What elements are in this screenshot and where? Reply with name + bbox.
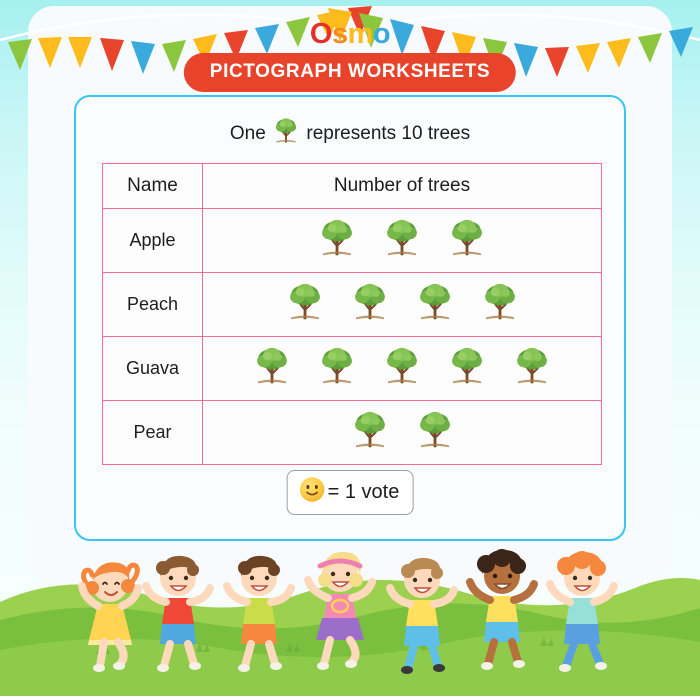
tree-icon — [416, 282, 454, 328]
osmo-logo: Osmo — [0, 20, 700, 49]
table-body: Name Number of trees Apple Peach — [103, 164, 602, 465]
header-cell-count: Number of trees — [203, 164, 602, 209]
logo-letter-o2: o — [373, 18, 390, 50]
ground-illustration — [0, 516, 700, 696]
row-trees-apple — [203, 209, 602, 273]
table-row: Peach — [103, 273, 602, 337]
header-cell-name: Name — [103, 164, 203, 209]
tree-icon — [448, 218, 486, 264]
worksheet-title-banner: PICTOGRAPH WORKSHEETS — [184, 53, 516, 92]
row-label-guava: Guava — [103, 337, 203, 401]
vote-legend-label: = 1 vote — [328, 481, 400, 504]
table-row: Apple — [103, 209, 602, 273]
tree-icon — [273, 117, 299, 151]
tree-group — [203, 410, 601, 456]
tree-group — [203, 282, 601, 328]
tree-icon — [318, 346, 356, 392]
worksheet-page: Osmo PICTOGRAPH WORKSHEETS One repr — [0, 0, 700, 696]
table-row: Pear — [103, 401, 602, 465]
pictograph-key-caption: One represents 10 trees — [76, 117, 624, 151]
tree-icon — [383, 346, 421, 392]
row-trees-pear — [203, 401, 602, 465]
table-row: Guava — [103, 337, 602, 401]
tree-icon — [318, 218, 356, 264]
tree-icon — [481, 282, 519, 328]
tree-icon — [286, 282, 324, 328]
row-label-pear: Pear — [103, 401, 203, 465]
table-header-row: Name Number of trees — [103, 164, 602, 209]
tree-icon — [351, 282, 389, 328]
logo-letter-s: s — [332, 18, 348, 50]
tree-group — [203, 218, 601, 264]
tree-icon — [383, 218, 421, 264]
pictograph-table: Name Number of trees Apple Peach — [102, 163, 602, 465]
caption-suffix: represents 10 trees — [306, 123, 470, 144]
tree-icon — [513, 346, 551, 392]
worksheet-card: One represents 10 trees — [74, 95, 626, 541]
tree-group — [203, 346, 601, 392]
row-trees-peach — [203, 273, 602, 337]
header-label-count: Number of trees — [334, 175, 470, 196]
header-label-name: Name — [127, 175, 178, 196]
tree-icon — [253, 346, 291, 392]
tree-icon — [448, 346, 486, 392]
row-label-apple: Apple — [103, 209, 203, 273]
row-label-peach: Peach — [103, 273, 203, 337]
smiley-face-icon — [299, 476, 326, 508]
logo-letter-o1: O — [310, 18, 332, 50]
tree-icon — [351, 410, 389, 456]
row-trees-guava — [203, 337, 602, 401]
logo-letter-m: m — [348, 18, 373, 50]
caption-prefix: One — [230, 123, 266, 144]
tree-icon — [416, 410, 454, 456]
vote-legend: = 1 vote — [287, 470, 414, 515]
